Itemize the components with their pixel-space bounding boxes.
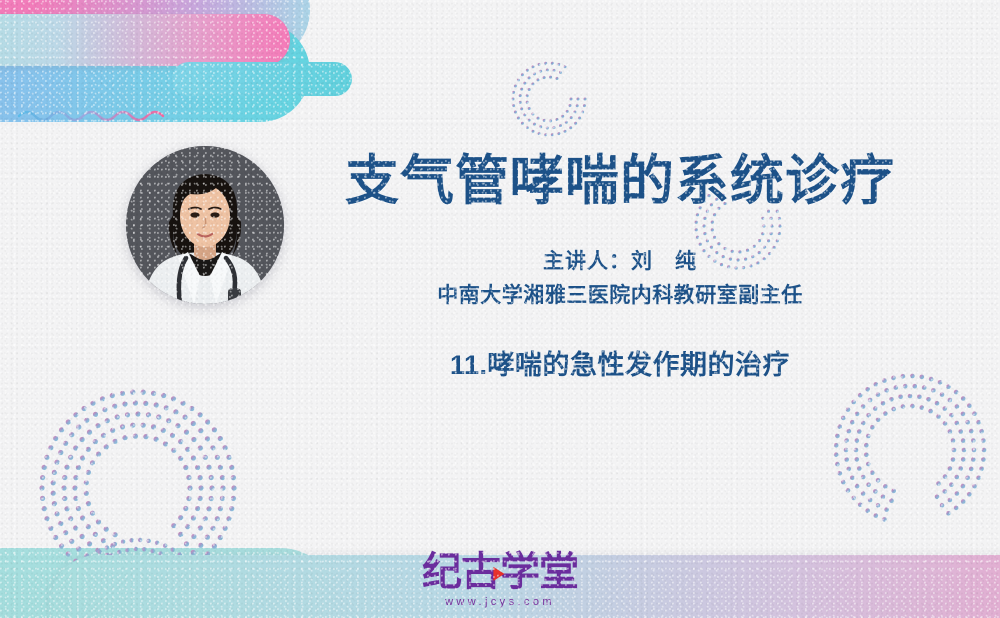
decor-pill-top-left-small-cyan xyxy=(172,62,352,96)
speaker-portrait-photo xyxy=(126,146,284,304)
decor-pill-top-left-gradient xyxy=(0,14,290,66)
speaker-name: 主讲人：刘 纯 xyxy=(320,245,920,275)
decor-dotted-ring-large-icon xyxy=(830,370,990,530)
play-triangle-icon xyxy=(493,567,504,581)
page-title: 支气管哮喘的系统诊疗 xyxy=(320,152,920,211)
decor-wavy-line-icon xyxy=(16,106,176,124)
speaker-affiliation: 中南大学湘雅三医院内科教研室副主任 xyxy=(320,279,920,309)
speaker-avatar xyxy=(126,146,284,304)
title-text-block: 支气管哮喘的系统诊疗 主讲人：刘 纯 中南大学湘雅三医院内科教研室副主任 11.… xyxy=(320,152,920,382)
lesson-title: 11.哮喘的急性发作期的治疗 xyxy=(320,343,920,382)
brand-logo-url: www.jcys.com xyxy=(0,596,1000,608)
brand-logo: 纪古学堂 www.jcys.com xyxy=(0,552,1000,608)
decor-dotted-ring-icon xyxy=(508,58,590,140)
brand-logo-mark: 纪古学堂 xyxy=(422,552,578,592)
slide-canvas: 支气管哮喘的系统诊疗 主讲人：刘 纯 中南大学湘雅三医院内科教研室副主任 11.… xyxy=(0,0,1000,618)
